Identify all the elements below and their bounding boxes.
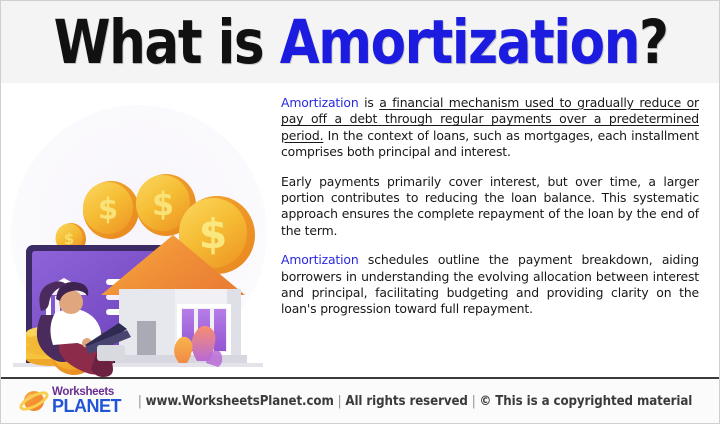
title-part-what-is: What is xyxy=(54,7,280,78)
svg-text:$: $ xyxy=(98,192,118,226)
title-question-mark: ? xyxy=(639,7,668,78)
definition-text-column: Amortization is a financial mechanism us… xyxy=(273,83,720,377)
planet-icon xyxy=(19,387,49,415)
title-banner: What is Amortization? xyxy=(1,1,720,85)
infographic-page: What is Amortization? xyxy=(0,0,720,424)
footer-rights: All rights reserved xyxy=(345,393,467,409)
logo-wordmark: Worksheets PLANET xyxy=(52,387,121,416)
amortization-illustration: $ $ $ $ xyxy=(1,83,273,377)
content-area: $ $ $ $ xyxy=(1,83,720,377)
title-part-amortization: Amortization xyxy=(280,7,639,78)
svg-text:$: $ xyxy=(199,210,228,258)
keyword-amortization-2: Amortization xyxy=(281,252,359,267)
footer-separator-2: | xyxy=(334,393,346,409)
svg-text:$: $ xyxy=(152,185,174,223)
page-title: What is Amortization? xyxy=(54,12,668,73)
logo-planet-text: PLANET xyxy=(52,397,121,415)
paragraph-1-is: is xyxy=(359,95,380,110)
footer-separator-3: | xyxy=(468,393,480,409)
keyword-amortization-1: Amortization xyxy=(281,95,359,110)
paragraph-1-rest: In the context of loans, such as mortgag… xyxy=(281,128,699,159)
footer-separator-1: | xyxy=(134,393,146,409)
footer-copyright: © This is a copyrighted material xyxy=(480,393,693,409)
worksheets-planet-logo[interactable]: Worksheets PLANET xyxy=(19,387,121,416)
coin-medium-left: $ xyxy=(83,181,139,239)
footer-website[interactable]: www.WorksheetsPlanet.com xyxy=(146,393,334,409)
footer-credits: |www.WorksheetsPlanet.com|All rights res… xyxy=(134,393,692,409)
illustration-graphic: $ $ $ $ xyxy=(1,83,273,377)
paragraph-1: Amortization is a financial mechanism us… xyxy=(281,95,699,161)
paragraph-2: Early payments primarily cover interest,… xyxy=(281,174,699,240)
footer-bar: Worksheets PLANET |www.WorksheetsPlanet.… xyxy=(1,377,720,423)
paragraph-3: Amortization schedules outline the payme… xyxy=(281,252,699,318)
